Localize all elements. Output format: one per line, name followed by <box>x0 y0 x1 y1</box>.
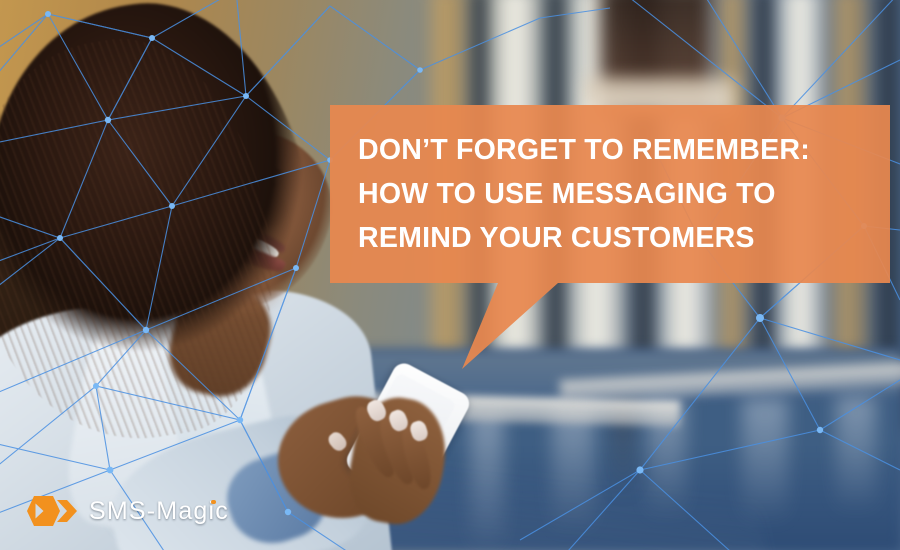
headline-line-3: REMIND YOUR CUSTOMERS <box>358 216 856 260</box>
headline-text: DON’T FORGET TO REMEMBER: HOW TO USE MES… <box>330 105 890 283</box>
logo-accent-dot <box>211 500 216 505</box>
logo-wordmark: SMS-Magic <box>89 497 229 525</box>
headline-speech-bubble: DON’T FORGET TO REMEMBER: HOW TO USE MES… <box>0 0 900 550</box>
sms-magic-logo-text: SMS-Magic <box>89 497 229 526</box>
headline-line-1: DON’T FORGET TO REMEMBER: <box>358 128 856 172</box>
blog-header-banner: DON’T FORGET TO REMEMBER: HOW TO USE MES… <box>0 0 900 550</box>
speech-bubble-tail <box>462 283 572 369</box>
headline-line-2: HOW TO USE MESSAGING TO <box>358 172 856 216</box>
sms-magic-logo[interactable]: SMS-Magic <box>26 496 229 526</box>
sms-magic-chevron-hexagon-icon <box>26 496 78 526</box>
